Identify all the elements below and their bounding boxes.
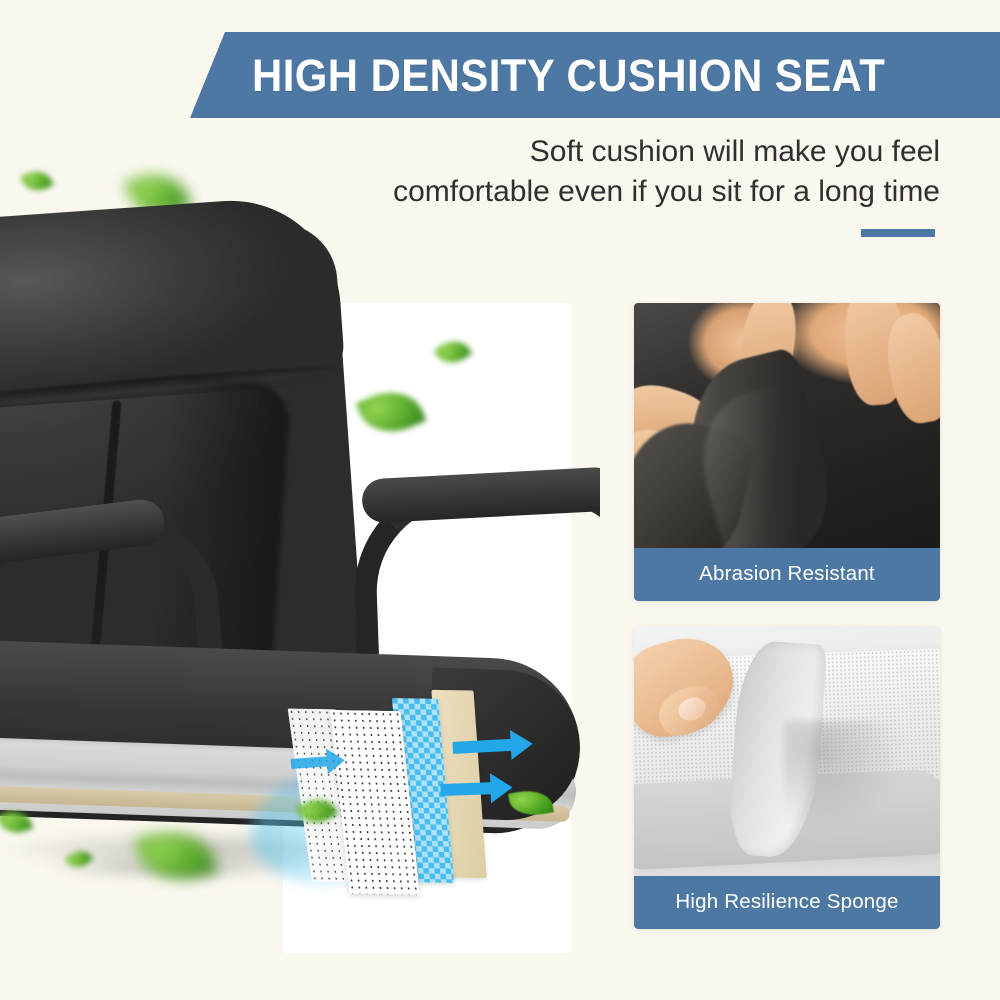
hero-product-image (0, 150, 600, 1000)
feature-card-caption: Abrasion Resistant (634, 548, 940, 601)
accent-bar (861, 229, 935, 237)
leather-photo (634, 303, 940, 548)
leaf-icon (434, 334, 472, 371)
sponge-compression (784, 721, 904, 831)
page-title: HIGH DENSITY CUSHION SEAT (252, 53, 885, 98)
product-feature-banner: HIGH DENSITY CUSHION SEAT Soft cushion w… (0, 0, 1000, 1000)
feature-card-high-resilience-sponge[interactable]: High Resilience Sponge (634, 626, 940, 929)
leaf-icon (356, 380, 427, 444)
feature-card-abrasion-resistant[interactable]: Abrasion Resistant (634, 303, 940, 601)
sponge-photo (634, 626, 940, 876)
title-banner: HIGH DENSITY CUSHION SEAT (190, 32, 1000, 118)
feature-card-caption: High Resilience Sponge (634, 876, 940, 929)
leaf-icon (20, 165, 53, 197)
